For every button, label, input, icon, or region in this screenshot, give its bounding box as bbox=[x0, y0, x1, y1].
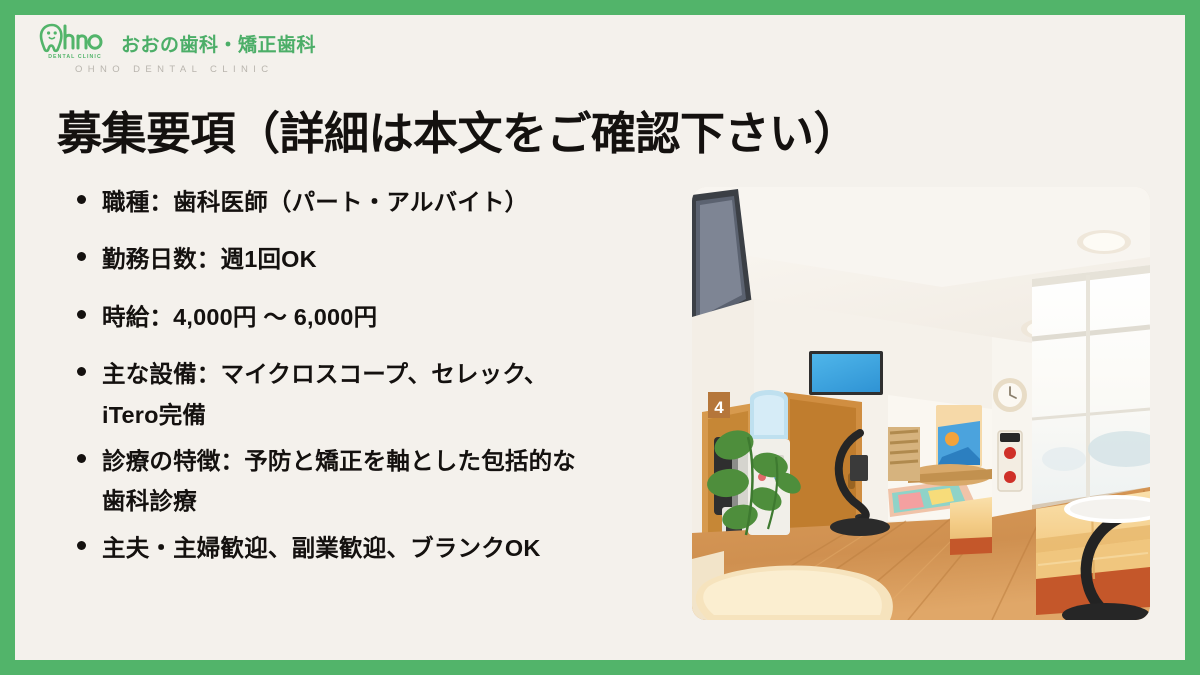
clinic-name-en: OHNO DENTAL CLINIC bbox=[75, 64, 316, 75]
list-item-line2: 歯科診療 bbox=[102, 488, 197, 514]
bullet-dot-icon bbox=[77, 252, 86, 261]
bullet-dot-icon bbox=[77, 310, 86, 319]
page-title: 募集要項（詳細は本文をご確認下さい） bbox=[57, 97, 858, 162]
bullet-dot-icon bbox=[77, 541, 86, 550]
list-item-label: 職種：歯科医師（パート・アルバイト） bbox=[102, 182, 528, 222]
requirements-list: 職種：歯科医師（パート・アルバイト） 勤務日数：週1回OK 時給：4,000円 … bbox=[77, 182, 677, 585]
list-item: 診療の特徴：予防と矯正を軸とした包括的な 歯科診療 bbox=[77, 441, 677, 522]
list-item-label: 主な設備：マイクロスコープ、セレック、 iTero完備 bbox=[102, 354, 548, 435]
list-item-line1: 診療の特徴：予防と矯正を軸とした包括的な bbox=[102, 448, 576, 474]
list-item-line2: iTero完備 bbox=[102, 402, 206, 428]
bullet-dot-icon bbox=[77, 195, 86, 204]
tooth-logo-icon: DENTAL CLINIC bbox=[39, 23, 111, 61]
list-item: 時給：4,000円 〜 6,000円 bbox=[77, 297, 677, 337]
list-item-label: 主夫・主婦歓迎、副業歓迎、ブランクOK bbox=[102, 528, 541, 568]
tv-screen bbox=[812, 354, 880, 392]
wall-tv-icon bbox=[809, 351, 883, 395]
list-item: 主な設備：マイクロスコープ、セレック、 iTero完備 bbox=[77, 354, 677, 435]
list-item: 勤務日数：週1回OK bbox=[77, 239, 677, 279]
waiting-room-photo: 4 bbox=[692, 187, 1150, 620]
svg-text:4: 4 bbox=[714, 398, 724, 417]
list-item-label: 勤務日数：週1回OK bbox=[102, 239, 317, 279]
slide-canvas: DENTAL CLINIC おおの歯科・矯正歯科 OHNO DENTAL CLI… bbox=[15, 15, 1185, 660]
list-item: 主夫・主婦歓迎、副業歓迎、ブランクOK bbox=[77, 528, 677, 568]
clinic-logo: DENTAL CLINIC おおの歯科・矯正歯科 OHNO DENTAL CLI… bbox=[39, 23, 316, 75]
bullet-dot-icon bbox=[77, 367, 86, 376]
list-item-label: 時給：4,000円 〜 6,000円 bbox=[102, 297, 377, 337]
list-item-line1: 主な設備：マイクロスコープ、セレック、 bbox=[102, 361, 548, 387]
bullet-dot-icon bbox=[77, 454, 86, 463]
list-item: 職種：歯科医師（パート・アルバイト） bbox=[77, 182, 677, 222]
list-item-label: 診療の特徴：予防と矯正を軸とした包括的な 歯科診療 bbox=[102, 441, 576, 522]
logo-row: DENTAL CLINIC おおの歯科・矯正歯科 bbox=[39, 23, 316, 61]
logo-mark-subtext: DENTAL CLINIC bbox=[48, 54, 102, 60]
clinic-name-jp: おおの歯科・矯正歯科 bbox=[121, 30, 316, 57]
